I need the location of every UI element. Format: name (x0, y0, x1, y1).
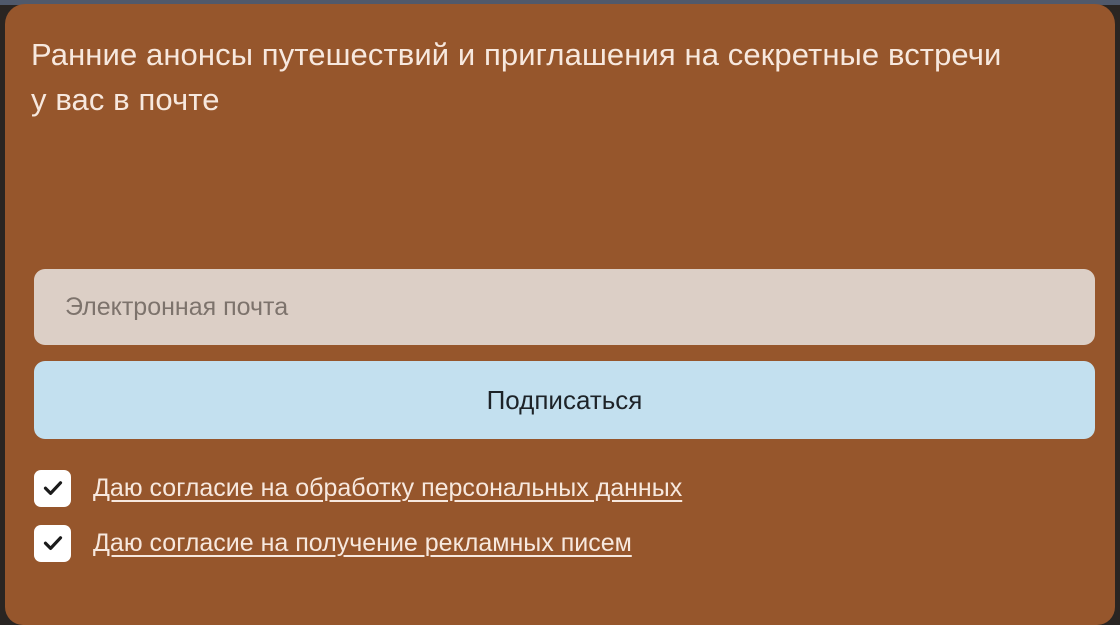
consent-checkbox-personal-data[interactable] (34, 470, 71, 507)
consent-link-marketing-emails[interactable]: Даю согласие на получение рекламных писе… (93, 528, 632, 558)
subscribe-button[interactable]: Подписаться (34, 361, 1095, 439)
consent-link-personal-data[interactable]: Даю согласие на обработку персональных д… (93, 473, 682, 503)
check-icon (41, 531, 65, 555)
consent-checkbox-marketing-emails[interactable] (34, 525, 71, 562)
page-title: Ранние анонсы путешествий и приглашения … (31, 32, 1021, 122)
subscription-card: Ранние анонсы путешествий и приглашения … (5, 4, 1115, 625)
email-field[interactable] (34, 269, 1095, 345)
subscription-widget: Ранние анонсы путешествий и приглашения … (0, 0, 1120, 625)
consent-row-personal-data: Даю согласие на обработку персональных д… (34, 469, 682, 507)
subscribe-button-label: Подписаться (487, 385, 643, 416)
consent-row-marketing-emails: Даю согласие на получение рекламных писе… (34, 524, 632, 562)
check-icon (41, 476, 65, 500)
